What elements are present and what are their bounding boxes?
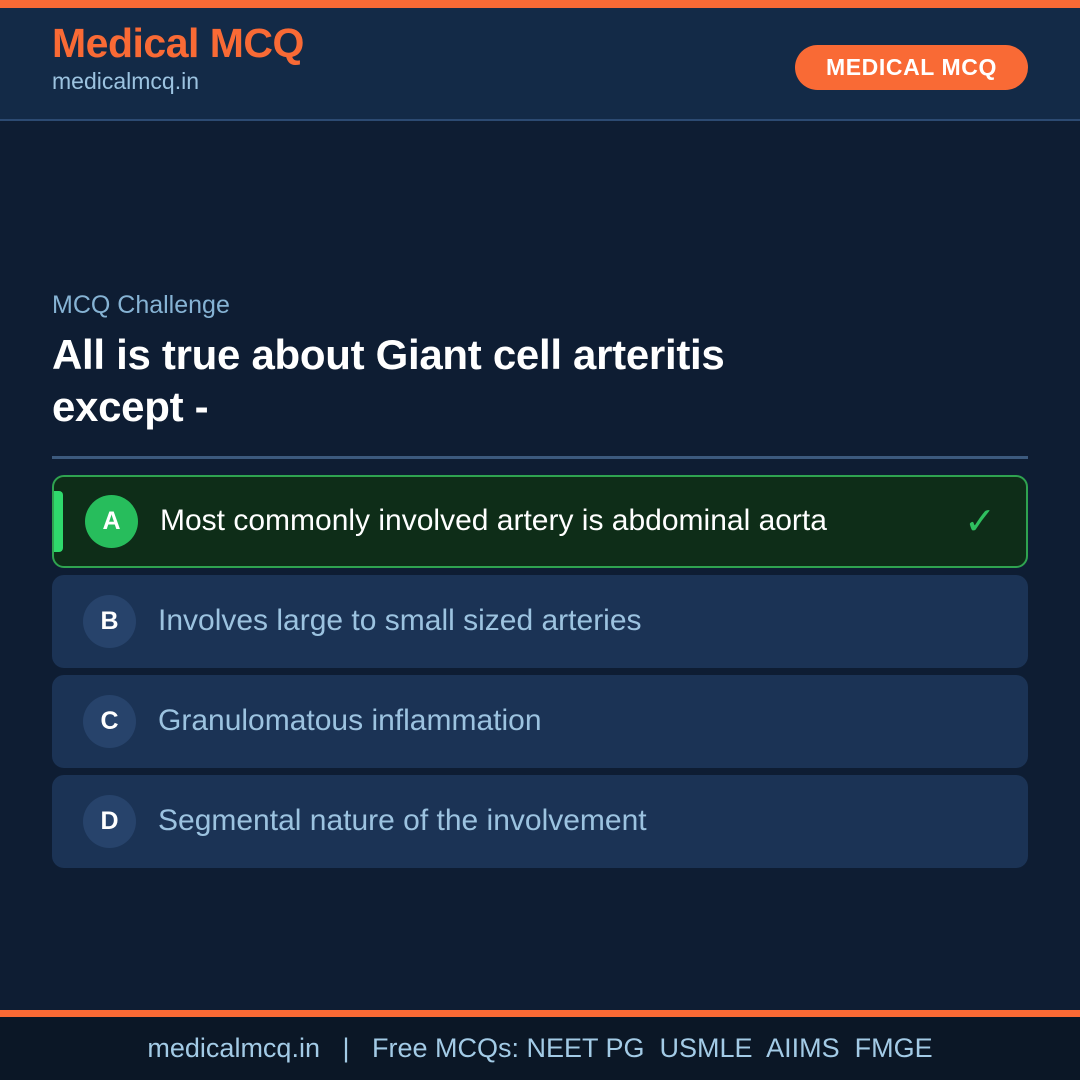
question-divider <box>52 456 1028 459</box>
option-d-text: Segmental nature of the involvement <box>158 804 968 838</box>
check-icon: ✓ <box>964 503 996 541</box>
option-c[interactable]: C Granulomatous inflammation <box>52 675 1028 768</box>
option-b[interactable]: B Involves large to small sized arteries <box>52 575 1028 668</box>
option-a-letter: A <box>85 495 138 548</box>
options-list: A Most commonly involved artery is abdom… <box>52 475 1028 875</box>
page-header: Medical MCQ medicalmcq.in MEDICAL MCQ <box>0 8 1080 121</box>
question-block: MCQ Challenge All is true about Giant ce… <box>52 292 1028 434</box>
brand-subtitle: medicalmcq.in <box>52 69 304 94</box>
footer-text: medicalmcq.in | Free MCQs: NEET PG USMLE… <box>147 1035 932 1062</box>
option-d-letter: D <box>83 795 136 848</box>
question-kicker: MCQ Challenge <box>52 292 1028 320</box>
option-d[interactable]: D Segmental nature of the involvement <box>52 775 1028 868</box>
option-a[interactable]: A Most commonly involved artery is abdom… <box>52 475 1028 568</box>
correct-accent-bar <box>54 491 63 552</box>
page-footer: medicalmcq.in | Free MCQs: NEET PG USMLE… <box>0 1017 1080 1080</box>
option-c-text: Granulomatous inflammation <box>158 704 968 738</box>
question-text: All is true about Giant cell arteritis e… <box>52 329 852 435</box>
option-a-text: Most commonly involved artery is abdomin… <box>160 504 966 538</box>
brand-block: Medical MCQ medicalmcq.in <box>52 22 304 94</box>
option-c-letter: C <box>83 695 136 748</box>
top-accent-rule <box>0 0 1080 8</box>
brand-title: Medical MCQ <box>52 22 304 65</box>
footer-accent-rule <box>0 1010 1080 1017</box>
option-b-letter: B <box>83 595 136 648</box>
brand-badge: MEDICAL MCQ <box>795 45 1028 90</box>
option-b-text: Involves large to small sized arteries <box>158 604 968 638</box>
